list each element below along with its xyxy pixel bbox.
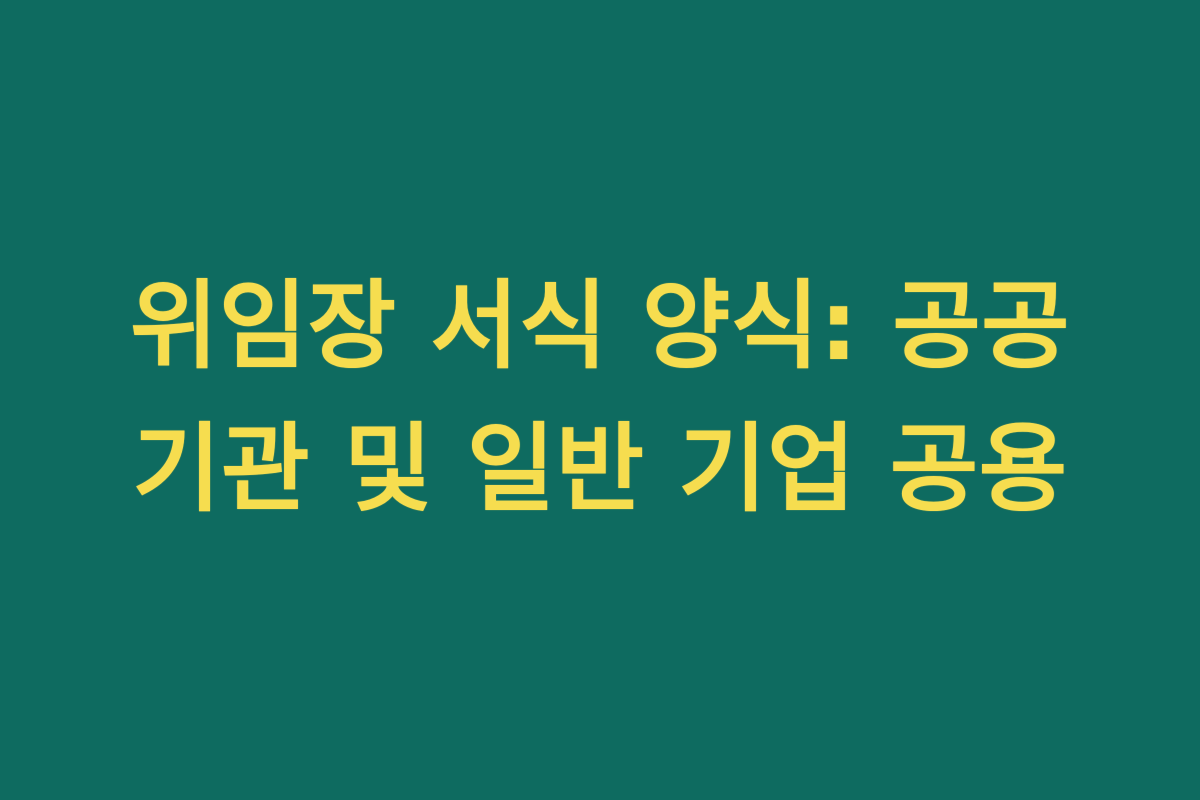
- banner-title-line-1: 위임장 서식 양식: 공공: [120, 255, 1080, 398]
- banner-title-line-2: 기관 및 일반 기업 공용: [120, 398, 1080, 541]
- title-banner-card: 위임장 서식 양식: 공공 기관 및 일반 기업 공용: [0, 0, 1200, 800]
- banner-title-block: 위임장 서식 양식: 공공 기관 및 일반 기업 공용: [100, 255, 1100, 541]
